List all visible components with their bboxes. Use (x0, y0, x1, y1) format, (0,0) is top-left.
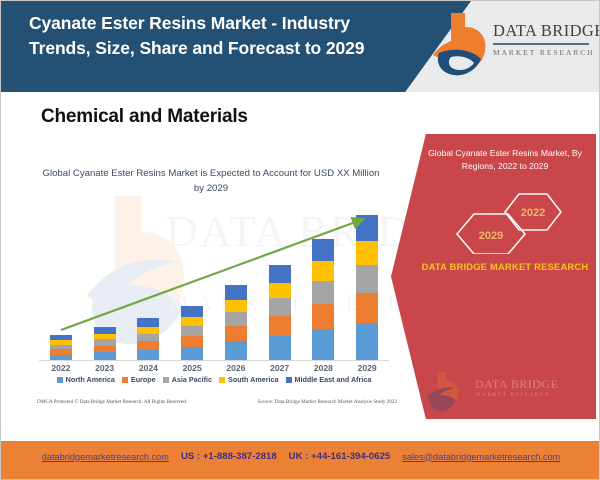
footer-email-link[interactable]: sales@databridgemarketresearch.com (402, 452, 560, 462)
regions-callout-panel: Global Cyanate Ester Resins Market, By R… (391, 134, 596, 419)
data-bridge-logo-icon (431, 11, 489, 79)
bar-segment (181, 336, 203, 347)
regions-panel-title: Global Cyanate Ester Resins Market, By R… (421, 147, 589, 173)
legend-label: Middle East and Africa (295, 375, 372, 384)
stacked-bar[interactable] (312, 239, 334, 360)
stacked-bar[interactable] (269, 265, 291, 360)
bar-column (258, 206, 302, 360)
legend-swatch (57, 377, 63, 383)
bar-column (170, 206, 214, 360)
legend-label: South America (228, 375, 278, 384)
bar-segment (312, 304, 334, 329)
panel-logo-tagline: MARKET RESEARCH (476, 392, 550, 398)
bar-column (39, 206, 83, 360)
bar-segment (181, 317, 203, 326)
stacked-bar-chart: 20222023202420252026202720282029 (39, 206, 389, 361)
stacked-bar[interactable] (356, 215, 378, 360)
bar-segment (94, 352, 116, 360)
bar-segment (94, 327, 116, 334)
stacked-bar[interactable] (181, 306, 203, 360)
x-axis-label: 2022 (39, 363, 83, 373)
bar-column (127, 206, 171, 360)
bar-segment (225, 341, 247, 360)
slide-container: Cyanate Ester Resins Market - Industry T… (0, 0, 600, 480)
bar-segment (269, 316, 291, 336)
bar-segment (181, 326, 203, 336)
legend-item[interactable]: Middle East and Africa (286, 375, 372, 384)
section-title: Chemical and Materials (41, 106, 248, 128)
x-axis-label: 2029 (345, 363, 389, 373)
x-axis-label: 2023 (83, 363, 127, 373)
bar-segment (356, 215, 378, 241)
stacked-bar[interactable] (137, 318, 159, 360)
bar-segment (137, 341, 159, 350)
source-notice: Source: Data Bridge Market Research Mark… (258, 399, 397, 405)
legend-label: Europe (131, 375, 156, 384)
hexagon-2022-label: 2022 (521, 207, 545, 219)
bar-column (345, 206, 389, 360)
bar-segment (181, 347, 203, 360)
bar-segment (225, 300, 247, 312)
bar-segment (225, 285, 247, 299)
footer-phone-uk: UK : +44-161-394-0625 (289, 451, 391, 462)
legend-item[interactable]: South America (219, 375, 278, 384)
x-axis-label: 2025 (170, 363, 214, 373)
footer-website-link[interactable]: databridgemarketresearch.com (42, 452, 169, 462)
bar-segment (356, 323, 378, 360)
bar-segment (269, 283, 291, 298)
panel-logo-icon (419, 371, 467, 413)
bar-segment (312, 281, 334, 304)
bar-segment (137, 334, 159, 342)
bar-segment (312, 239, 334, 261)
year-hexagons: 2022 2029 (446, 192, 576, 254)
logo-divider (493, 43, 589, 45)
bar-segment (312, 329, 334, 360)
copyright-notice: DMCA Protected © Data Bridge Market Rese… (37, 399, 187, 405)
bar-segment (94, 346, 116, 353)
logo-text-block: DATA BRIDGE MARKET RESEARCH (493, 21, 591, 57)
stacked-bar[interactable] (50, 335, 72, 360)
bar-segment (269, 336, 291, 360)
regions-panel-brand: DATA BRIDGE MARKET RESEARCH (421, 260, 589, 274)
fine-print-row: DMCA Protected © Data Bridge Market Rese… (37, 399, 397, 405)
logo-title: DATA BRIDGE (493, 21, 591, 41)
legend-label: North America (66, 375, 115, 384)
chart-bars (39, 206, 389, 360)
header-banner: Cyanate Ester Resins Market - Industry T… (1, 1, 600, 92)
bar-segment (137, 327, 159, 334)
chart-x-axis (39, 360, 389, 361)
brand-logo: DATA BRIDGE MARKET RESEARCH (431, 9, 591, 83)
stacked-bar[interactable] (94, 327, 116, 360)
bar-segment (269, 298, 291, 316)
panel-logo-title: DATA BRIDGE (475, 377, 559, 392)
legend-swatch (219, 377, 225, 383)
chart-x-labels: 20222023202420252026202720282029 (39, 363, 389, 373)
bar-segment (181, 306, 203, 317)
x-axis-label: 2027 (258, 363, 302, 373)
legend-item[interactable]: Asia Pacific (163, 375, 212, 384)
x-axis-label: 2028 (302, 363, 346, 373)
legend-label: Asia Pacific (172, 375, 212, 384)
bar-segment (225, 312, 247, 326)
regions-panel-logo: DATA BRIDGE MARKET RESEARCH (419, 371, 569, 413)
bar-segment (356, 241, 378, 265)
bar-column (83, 206, 127, 360)
legend-swatch (286, 377, 292, 383)
legend-item[interactable]: North America (57, 375, 115, 384)
legend-swatch (163, 377, 169, 383)
footer-phone-us: US : +1-888-387-2818 (181, 451, 277, 462)
chart-legend: North AmericaEuropeAsia PacificSouth Ame… (39, 375, 389, 384)
bar-segment (356, 265, 378, 293)
bar-segment (137, 350, 159, 360)
legend-swatch (122, 377, 128, 383)
bar-segment (225, 326, 247, 341)
x-axis-label: 2026 (214, 363, 258, 373)
chart-subtitle: Global Cyanate Ester Resins Market is Ex… (41, 166, 381, 196)
bar-segment (94, 339, 116, 346)
stacked-bar[interactable] (225, 285, 247, 360)
bar-segment (137, 318, 159, 327)
bar-segment (269, 265, 291, 283)
bar-column (302, 206, 346, 360)
hexagon-2029-label: 2029 (479, 230, 503, 242)
logo-tagline: MARKET RESEARCH (493, 48, 591, 57)
bar-column (214, 206, 258, 360)
page-title: Cyanate Ester Resins Market - Industry T… (29, 11, 399, 61)
footer-bar: databridgemarketresearch.com US : +1-888… (1, 441, 600, 479)
bar-segment (312, 261, 334, 281)
x-axis-label: 2024 (127, 363, 171, 373)
legend-item[interactable]: Europe (122, 375, 156, 384)
bar-segment (356, 293, 378, 323)
